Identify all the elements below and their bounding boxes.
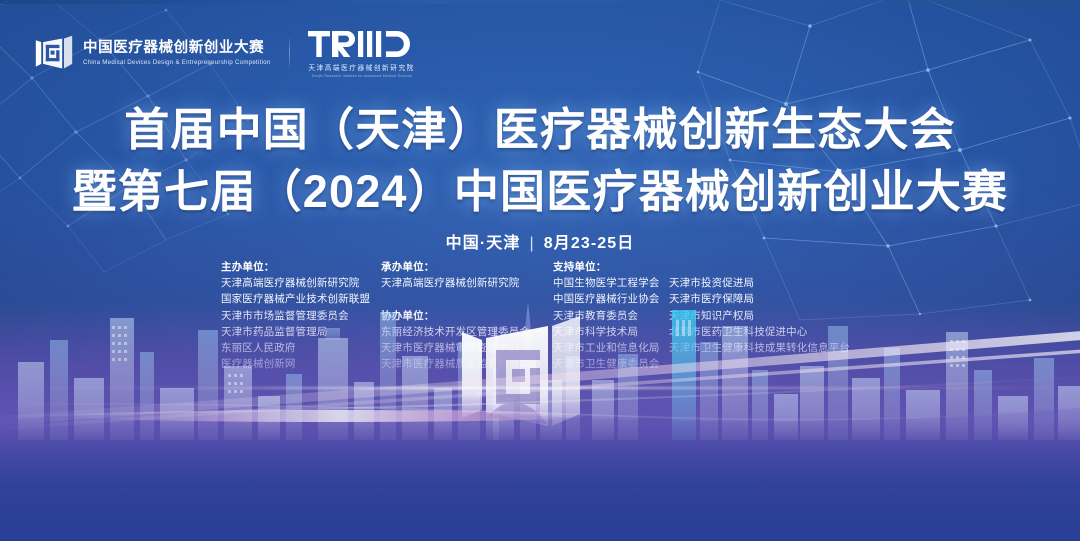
event-location: 中国·天津 xyxy=(446,235,521,252)
open-book-logo-mark-icon xyxy=(34,33,74,73)
trmd-wordmark-icon xyxy=(308,29,416,59)
horizon-glow-line xyxy=(0,387,1080,389)
conference-banner: 中国医疗器械创新创业大赛 China Medical Devices Desig… xyxy=(0,0,1080,541)
title-line-1: 首届中国（天津）医疗器械创新生态大会 xyxy=(0,99,1080,161)
event-date: 8月23-25日 xyxy=(544,235,635,252)
competition-logo-title-cn: 中国医疗器械创新创业大赛 xyxy=(83,40,271,57)
background-floor-fade xyxy=(0,421,1080,541)
top-edge-highlight xyxy=(0,0,1080,4)
institute-logo: 天津高端医疗器械创新研究院 Tianjin Research Institute… xyxy=(308,29,416,78)
skyline-center-logo-mark xyxy=(462,316,580,426)
city-skyline-decoration xyxy=(0,270,1080,445)
meta-separator: | xyxy=(529,235,534,253)
logo-divider xyxy=(289,36,290,70)
title-line-2: 暨第七届（2024）中国医疗器械创新创业大赛 xyxy=(0,161,1080,223)
header-logo-bar: 中国医疗器械创新创业大赛 China Medical Devices Desig… xyxy=(34,29,416,78)
institute-name-cn: 天津高端医疗器械创新研究院 xyxy=(308,62,415,72)
event-meta-line: 中国·天津|8月23-25日 xyxy=(0,229,1080,253)
main-title-block: 首届中国（天津）医疗器械创新生态大会 暨第七届（2024）中国医疗器械创新创业大… xyxy=(0,99,1080,223)
institute-name-en: Tianjin Research Institute for Advanced … xyxy=(311,74,412,78)
competition-logo-title-en: China Medical Devices Design & Entrepren… xyxy=(83,59,271,67)
competition-logo: 中国医疗器械创新创业大赛 China Medical Devices Desig… xyxy=(34,33,271,73)
